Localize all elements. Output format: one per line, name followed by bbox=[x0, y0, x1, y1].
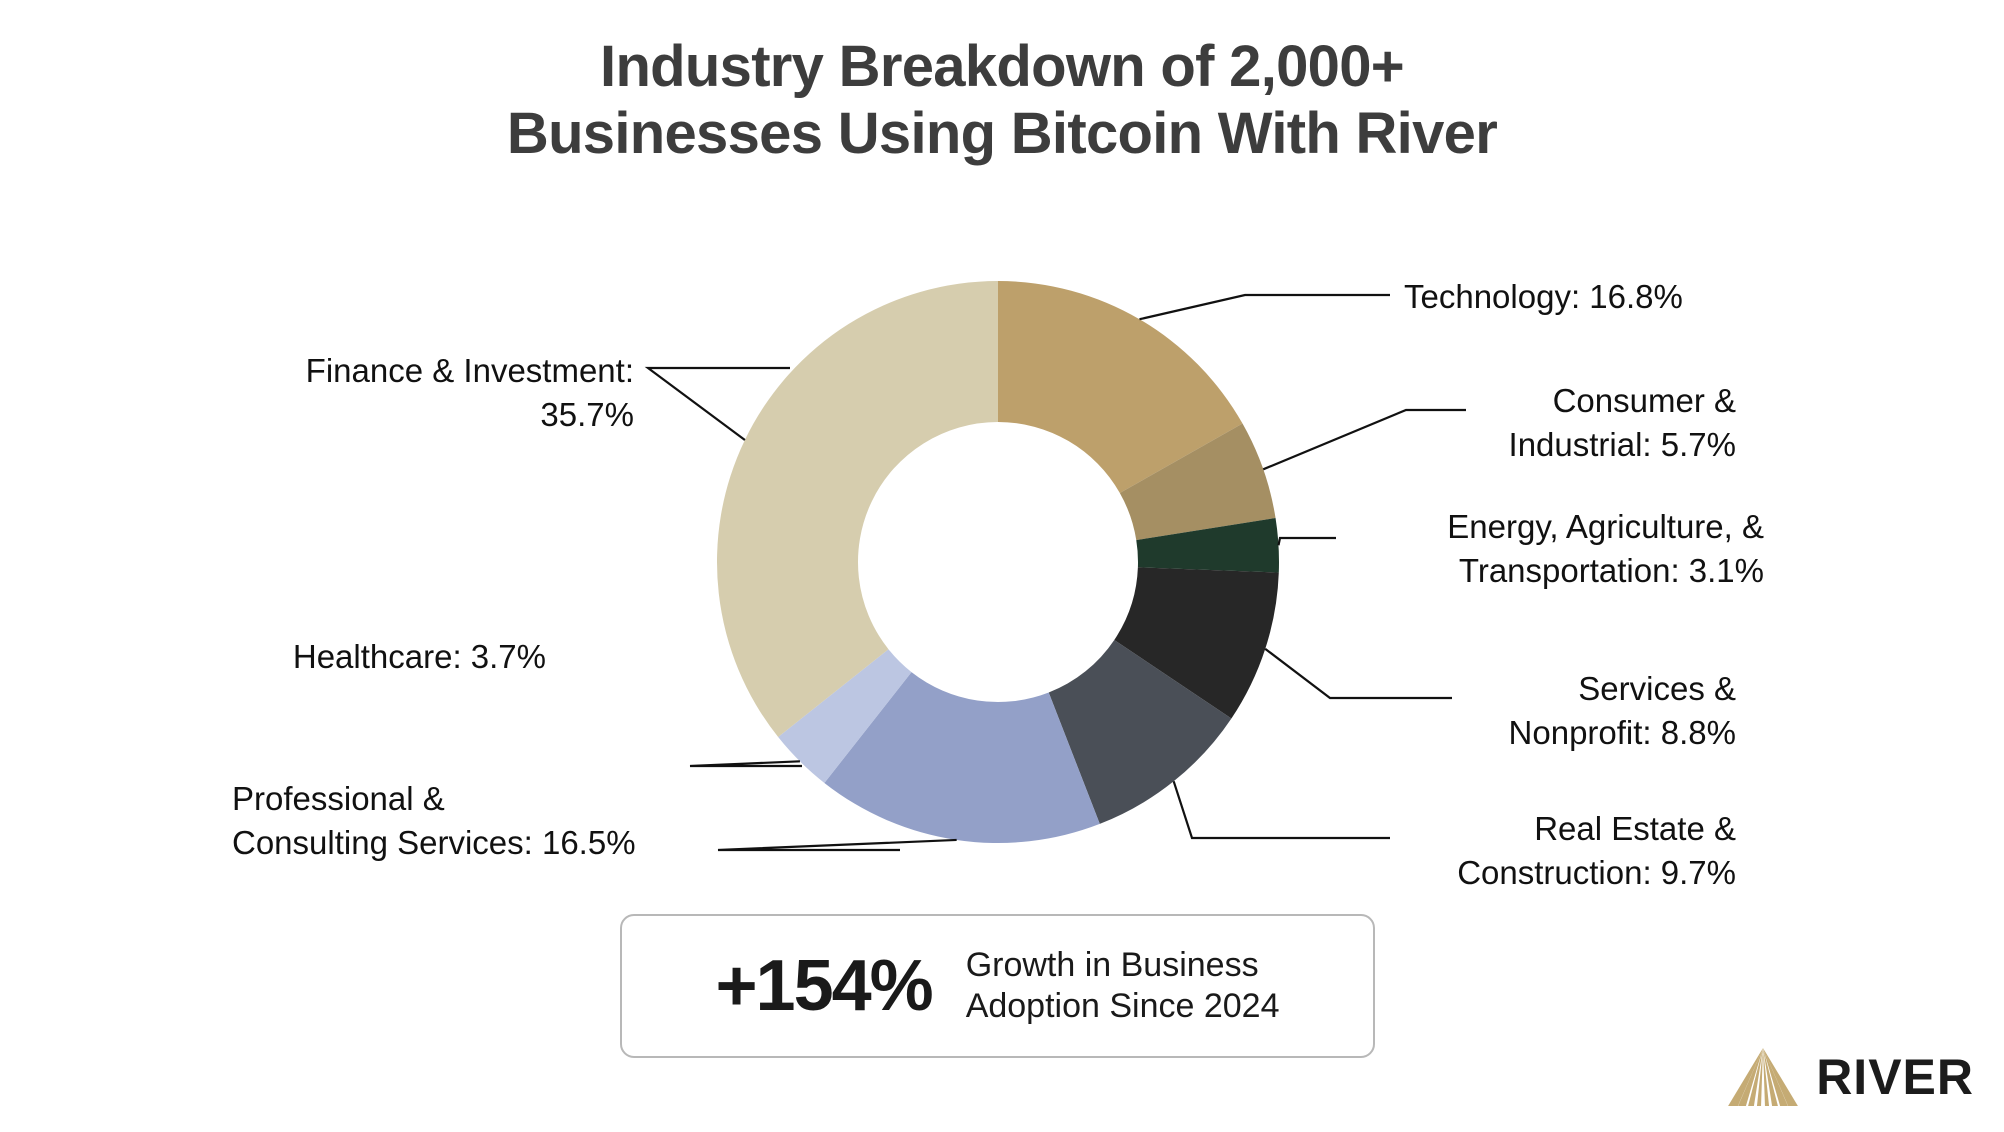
donut-slices bbox=[717, 281, 1279, 843]
leader-line bbox=[1174, 781, 1390, 838]
stat-callout-box: +154% Growth in Business Adoption Since … bbox=[620, 914, 1375, 1058]
slice-label: Professional &Consulting Services: 16.5% bbox=[232, 780, 636, 861]
leader-line bbox=[1263, 410, 1466, 469]
leader-line bbox=[1140, 295, 1390, 319]
leader-line bbox=[718, 840, 957, 850]
leader-line bbox=[690, 761, 802, 766]
stat-value: +154% bbox=[715, 950, 931, 1022]
slice-label: Healthcare: 3.7% bbox=[293, 638, 546, 675]
stat-caption: Growth in Business Adoption Since 2024 bbox=[966, 945, 1280, 1027]
slice-label: Real Estate &Construction: 9.7% bbox=[1457, 810, 1736, 891]
slice-label: Energy, Agriculture, &Transportation: 3.… bbox=[1447, 508, 1764, 589]
river-wordmark: RIVER bbox=[1816, 1048, 1974, 1106]
slice-label: Technology: 16.8% bbox=[1404, 278, 1683, 315]
donut-slice bbox=[717, 281, 998, 737]
leader-line bbox=[1278, 538, 1336, 545]
river-logo: RIVER bbox=[1726, 1044, 1974, 1110]
slice-label: Services &Nonprofit: 8.8% bbox=[1509, 670, 1736, 751]
stat-caption-line-1: Growth in Business bbox=[966, 945, 1280, 986]
river-mark-icon bbox=[1726, 1044, 1800, 1110]
slice-label: Finance & Investment:35.7% bbox=[306, 352, 634, 433]
leader-line bbox=[1265, 649, 1452, 698]
stat-caption-line-2: Adoption Since 2024 bbox=[966, 986, 1280, 1027]
slice-label: Consumer &Industrial: 5.7% bbox=[1509, 382, 1736, 463]
